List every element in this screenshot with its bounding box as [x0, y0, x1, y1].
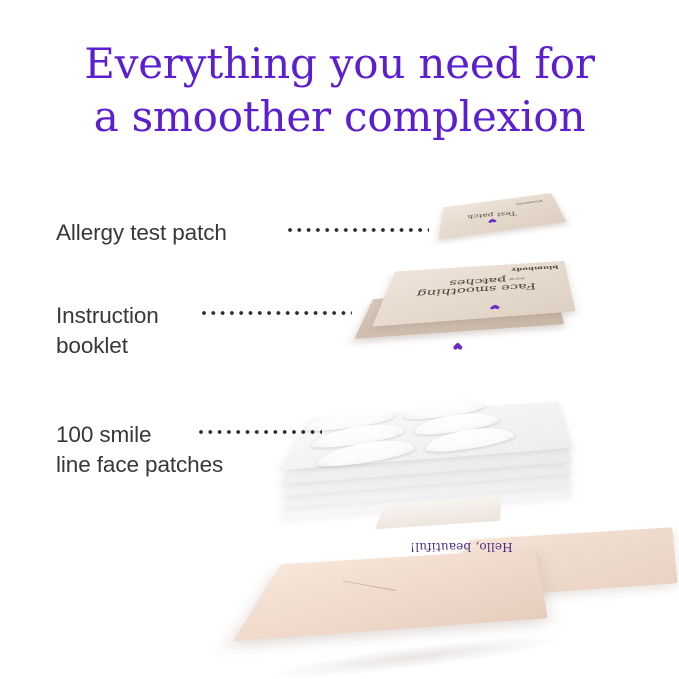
instruction-booklet: blumbody HOW TO USE Face smoothing patch… — [360, 238, 580, 373]
callout-line-1: Instruction — [56, 301, 159, 331]
box-inner-flap — [375, 496, 502, 529]
leader-dots — [288, 228, 429, 232]
callout-label-instruction-booklet: Instruction booklet — [56, 301, 159, 361]
box-greeting: Hello, beautiful! — [410, 540, 513, 554]
callout-line-1: 100 smile — [56, 420, 223, 450]
infographic-canvas: Everything you need for a smoother compl… — [0, 0, 679, 679]
callout-line-2: booklet — [56, 331, 159, 361]
heart-icon — [488, 218, 495, 222]
callout-line-1: Allergy test patch — [56, 218, 227, 248]
callout-line-2: line face patches — [56, 450, 223, 480]
box-left-panel — [232, 549, 547, 641]
box-slot — [342, 580, 397, 591]
product-box: Hello, beautiful! — [268, 496, 679, 679]
test-patch-card: blumbody Test patch — [438, 181, 561, 246]
test-patch-brand: blumbody — [516, 199, 544, 206]
leader-dots — [199, 430, 322, 434]
leader-dots — [202, 311, 352, 315]
heart-icon — [453, 343, 461, 350]
booklet-brand: blumbody — [511, 264, 558, 272]
callout-label-allergy-test-patch: Allergy test patch — [56, 218, 227, 248]
booklet-title: Face smoothing patches — [400, 273, 551, 300]
test-patch-card-face: blumbody Test patch — [438, 193, 566, 239]
callout-label-face-patches: 100 smile line face patches — [56, 420, 223, 480]
heart-icon — [489, 304, 497, 309]
